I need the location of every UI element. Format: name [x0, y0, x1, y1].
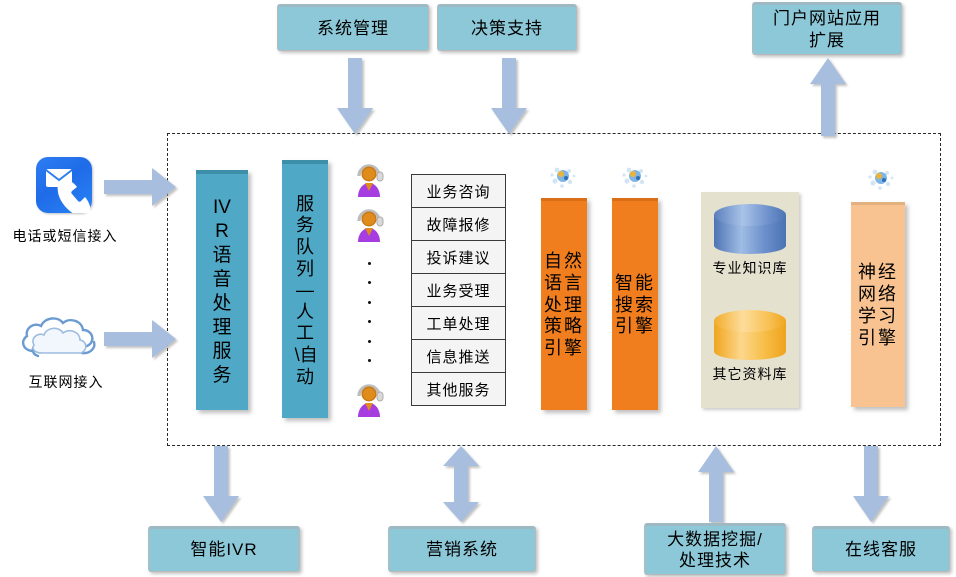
- bottom-box-big-data-mining[interactable]: 大数据挖掘/ 处理技术: [644, 523, 786, 575]
- service-type-item[interactable]: 工单处理: [412, 307, 505, 340]
- nlp-strategy-engine-label: 自然语言处理策略引擎: [542, 251, 585, 361]
- smart-search-engine-box[interactable]: 智能搜索引擎: [612, 198, 658, 410]
- service-type-list: 业务咨询故障报修投诉建议业务受理工单处理信息推送其他服务: [411, 174, 506, 406]
- top-box-label-line1: 门户网站应用: [773, 8, 881, 29]
- phone-sms-icon: [36, 157, 92, 213]
- internet-access-label: 互联网接入: [18, 372, 114, 392]
- knowledge-base-panel: 专业知识库 其它资料库: [701, 192, 799, 408]
- arrow-system-management-down: [337, 58, 373, 134]
- network-sparkle-icon: [622, 164, 648, 190]
- service-queue-label: 服务队列—人工\自动: [295, 194, 316, 388]
- arrow-decision-support-down: [491, 58, 527, 134]
- bottom-box-label: 在线客服: [845, 539, 917, 560]
- smart-search-engine-label: 智能搜索引擎: [613, 273, 656, 339]
- phone-sms-access-label: 电话或短信接入: [4, 226, 126, 246]
- arrow-phone-access-right: [104, 168, 176, 206]
- nlp-strategy-engine-box[interactable]: 自然语言处理策略引擎: [541, 198, 587, 410]
- professional-knowledge-base-label: 专业知识库: [701, 258, 799, 278]
- cloud-icon: [18, 313, 114, 365]
- arrow-smart-ivr-down: [203, 446, 239, 522]
- bottom-box-label-line2: 处理技术: [679, 550, 751, 571]
- ivr-label: IVR语音处理服务: [210, 196, 235, 388]
- other-data-base-label: 其它资料库: [701, 364, 799, 384]
- neural-network-engine-label: 神经网络学习引擎: [856, 262, 899, 350]
- bottom-box-smart-ivr[interactable]: 智能IVR: [148, 526, 300, 572]
- service-type-item[interactable]: 投诉建议: [412, 241, 505, 274]
- top-box-portal-extension[interactable]: 门户网站应用 扩展: [752, 2, 902, 55]
- bottom-box-label-line1: 大数据挖掘/: [667, 529, 763, 550]
- bottom-box-marketing-system[interactable]: 营销系统: [388, 526, 536, 572]
- other-data-base-cylinder: [714, 310, 786, 360]
- arrow-portal-up: [810, 58, 846, 136]
- top-box-label-line2: 扩展: [809, 30, 845, 51]
- network-sparkle-icon: [868, 166, 894, 192]
- service-type-item[interactable]: 其他服务: [412, 373, 505, 405]
- arrow-marketing-updown: [443, 446, 479, 522]
- bottom-box-label: 智能IVR: [190, 539, 257, 560]
- ivr-label-text: IVR语音处理服务: [212, 197, 231, 386]
- professional-knowledge-base-cylinder: [714, 204, 786, 254]
- bottom-box-label: 营销系统: [426, 539, 498, 560]
- service-type-item[interactable]: 信息推送: [412, 340, 505, 373]
- service-type-item[interactable]: 业务受理: [412, 274, 505, 307]
- agent-avatar: [354, 208, 384, 242]
- agent-avatar: [354, 383, 384, 417]
- arrow-online-service-down: [853, 446, 889, 522]
- arrow-bigdata-up: [698, 446, 734, 522]
- diagram-canvas: 系统管理 决策支持 门户网站应用 扩展 电话或短信接入: [0, 0, 956, 577]
- service-type-item[interactable]: 业务咨询: [412, 175, 505, 208]
- agent-list-ellipsis: [366, 262, 372, 362]
- service-queue-box[interactable]: 服务队列—人工\自动: [282, 160, 328, 418]
- agent-avatar: [354, 163, 384, 197]
- top-box-decision-support[interactable]: 决策支持: [437, 4, 577, 51]
- top-box-system-management[interactable]: 系统管理: [277, 4, 429, 51]
- neural-network-engine-box[interactable]: 神经网络学习引擎: [851, 202, 905, 407]
- top-box-label: 决策支持: [471, 18, 543, 39]
- network-sparkle-icon: [550, 164, 576, 190]
- service-type-item[interactable]: 故障报修: [412, 208, 505, 241]
- bottom-box-online-service[interactable]: 在线客服: [812, 526, 950, 572]
- arrow-internet-access-right: [104, 320, 176, 358]
- top-box-label: 系统管理: [317, 18, 389, 39]
- ivr-voice-service-box[interactable]: IVR语音处理服务: [196, 170, 248, 410]
- service-queue-label-text: 服务队列—人工\自动: [295, 194, 318, 387]
